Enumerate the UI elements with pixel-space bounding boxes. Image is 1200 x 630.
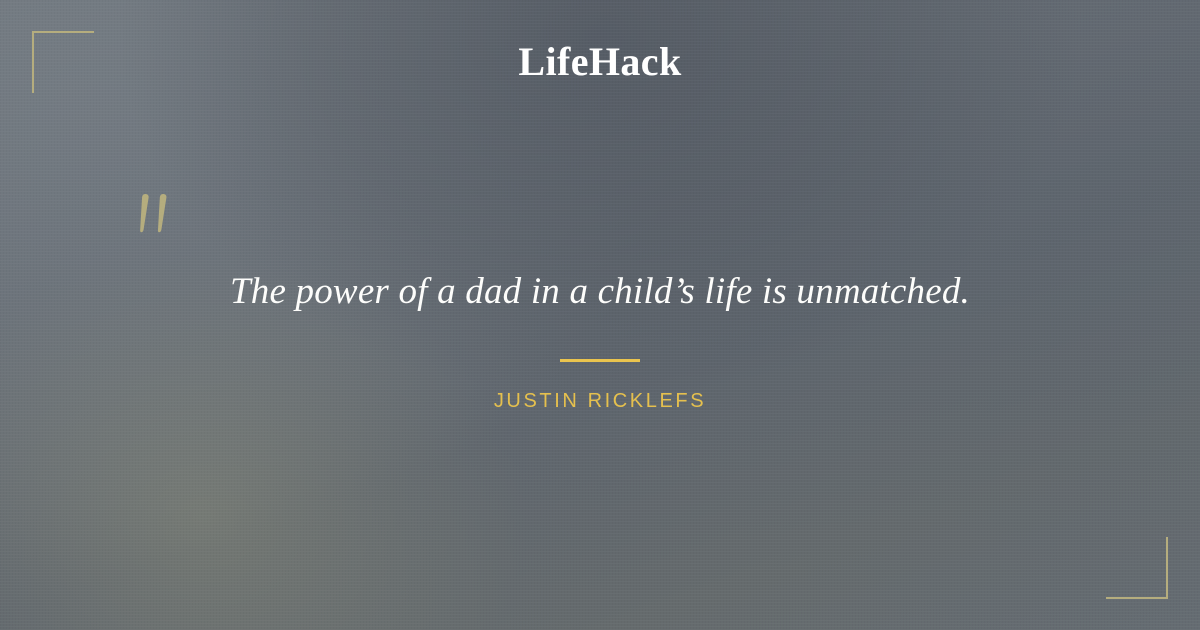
quotation-mark-icon <box>132 192 178 240</box>
corner-bracket-right-line <box>1166 537 1168 599</box>
corner-bracket-bottom-right-icon <box>1106 537 1168 599</box>
quote-author: JUSTIN RICKLEFS <box>0 388 1200 414</box>
corner-bracket-bottom-line <box>1106 597 1168 599</box>
quote-card: LifeHack The power of a dad in a child’s… <box>0 0 1200 630</box>
lifehack-logo: LifeHack <box>0 40 1200 84</box>
quote-text: The power of a dad in a child’s life is … <box>120 268 1080 316</box>
corner-bracket-top-line <box>32 31 94 33</box>
quote-divider <box>560 359 640 362</box>
